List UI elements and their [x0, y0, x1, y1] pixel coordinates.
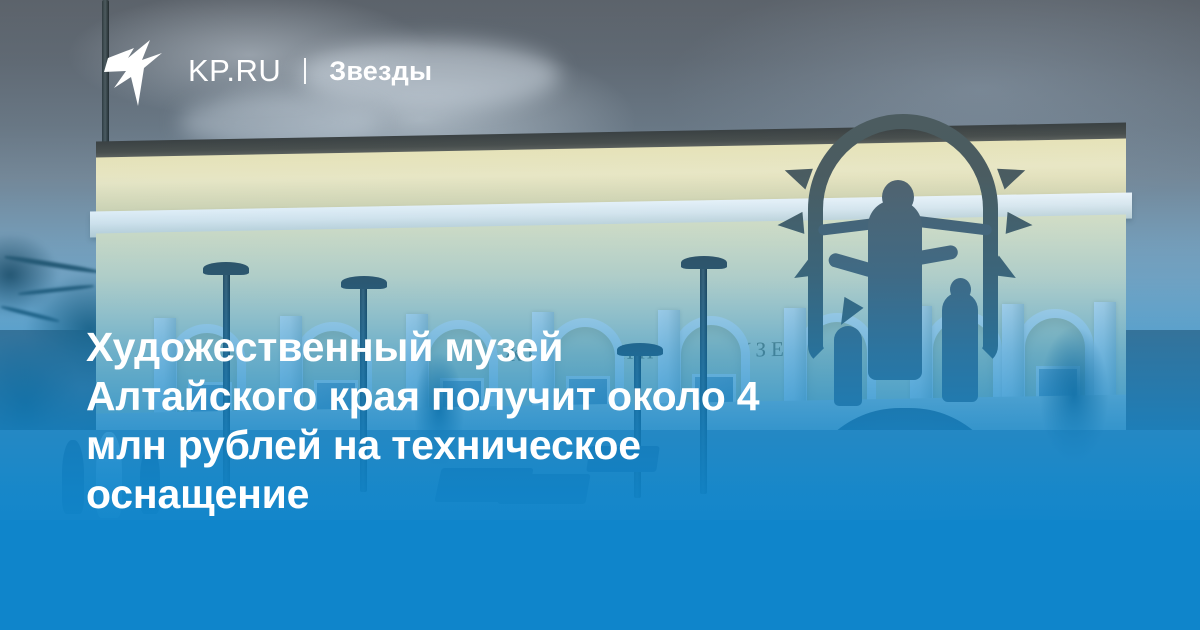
swallow-bird-logo-icon[interactable] — [104, 36, 166, 106]
headline-line: млн рублей на техническое — [86, 421, 1096, 470]
brand-header[interactable]: KP.RU Звезды — [104, 36, 432, 106]
header-divider — [304, 58, 306, 84]
brand-name[interactable]: KP.RU — [188, 53, 281, 89]
headline-line: оснащение — [86, 470, 1096, 519]
blue-solid-overlay — [0, 520, 1200, 630]
headline-line: Художественный музей — [86, 323, 1096, 372]
section-name[interactable]: Звезды — [329, 56, 432, 87]
article-share-card: ХУДОЖЕСТВЕННЫЙ МУЗЕЙ — [0, 0, 1200, 630]
headline-line: Алтайского края получит около 4 — [86, 372, 1096, 421]
headline: Художественный музей Алтайского края пол… — [86, 323, 1096, 519]
